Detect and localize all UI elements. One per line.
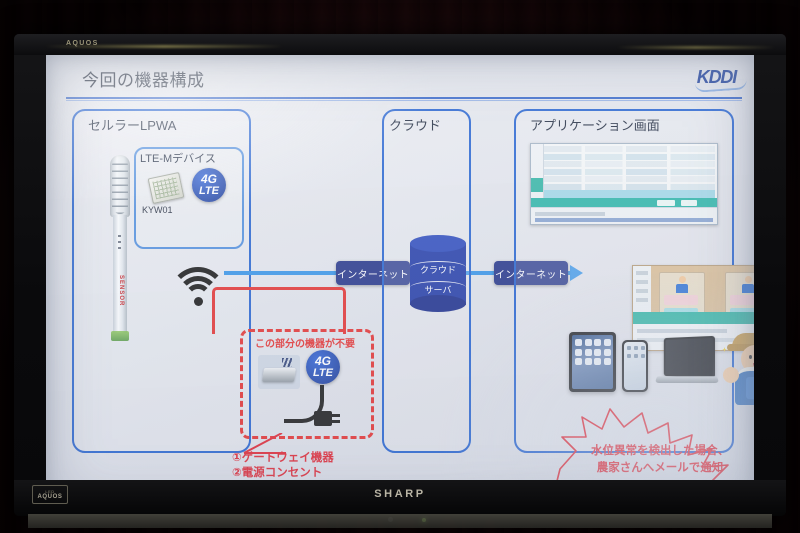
person-head xyxy=(745,276,752,283)
gateway-body xyxy=(262,368,296,382)
4g-lte-badge-icon: 4G LTE xyxy=(192,168,226,202)
farmer-illustration xyxy=(726,333,754,407)
tv-bottom-bezel: LED AQUOS SHARP xyxy=(14,480,786,516)
plug-head xyxy=(314,411,332,426)
gateway-antenna-icon xyxy=(282,358,292,367)
app-status-bar xyxy=(531,207,717,224)
smartphone-device-icon xyxy=(622,340,648,392)
form-sidebar-item xyxy=(636,298,648,302)
unnecessary-equipment-callout: この部分の機器が不要 xyxy=(246,335,364,350)
app-button xyxy=(657,200,675,206)
app-icon xyxy=(585,339,592,346)
table-row xyxy=(544,169,715,175)
person-head xyxy=(679,276,686,283)
page-title: 今回の機器構成 xyxy=(82,66,205,91)
title-divider xyxy=(66,97,742,99)
led-aquos-badge: LED AQUOS xyxy=(32,485,68,504)
cloud-server-database-icon: クラウド サーバ xyxy=(410,235,466,311)
app-taskbar xyxy=(535,218,713,222)
list-item: ①ゲートウェイ機器 xyxy=(232,451,424,466)
app-icon xyxy=(585,358,592,365)
television: AQUOS 今回の機器構成 KDDI セルラーLPWA SENSOR LTE-M… xyxy=(14,34,786,516)
badge-lte-text-2: LTE xyxy=(313,368,333,379)
app-icon xyxy=(575,339,582,346)
app-icon xyxy=(594,358,601,365)
kddi-swoosh xyxy=(695,79,748,93)
person-icon xyxy=(676,276,688,292)
table-row xyxy=(544,161,715,167)
sensor-brand-text: SENSOR xyxy=(116,275,124,327)
sharp-logo: SHARP xyxy=(374,488,426,500)
notification-line-2: 農家さんへメールで通知 xyxy=(562,460,754,477)
table-row xyxy=(544,154,715,160)
form-sidebar-item xyxy=(636,289,648,293)
tablet-device-icon xyxy=(569,332,616,392)
db-bottom xyxy=(410,295,466,312)
form-sidebar-item xyxy=(636,280,648,284)
form-alert-chip xyxy=(730,295,754,305)
notification-message: 水位異常を検出した場合、 農家さんへメールで通知 xyxy=(562,443,754,476)
table-row xyxy=(544,176,715,182)
title-divider-light xyxy=(66,100,742,101)
app-icon xyxy=(641,346,645,350)
tv-stand xyxy=(28,514,772,528)
person-icon xyxy=(742,276,754,292)
lte-m-device-label: LTE-Mデバイス xyxy=(140,150,216,166)
plug-pin xyxy=(332,414,340,417)
app-sidebar-selected xyxy=(531,178,543,192)
app-icon xyxy=(575,358,582,365)
tv-top-bezel: AQUOS xyxy=(14,34,786,55)
form-action-bar xyxy=(633,312,754,324)
person-body xyxy=(742,284,754,293)
db-label-line1: クラウド xyxy=(410,263,466,276)
plug-pin xyxy=(332,420,340,423)
application-table-screenshot xyxy=(530,143,718,225)
app-icon xyxy=(641,354,645,358)
app-icon xyxy=(634,346,638,350)
laptop-device-icon xyxy=(656,337,716,393)
app-icon xyxy=(594,349,601,356)
laptop-lid xyxy=(664,336,715,378)
grass-base xyxy=(111,331,129,341)
power-plug-icon xyxy=(284,385,340,429)
farmer-arm-left xyxy=(723,367,739,383)
gateway-device-icon xyxy=(258,355,300,389)
badge-lte-text: LTE xyxy=(199,186,219,197)
4g-lte-badge-icon-2: 4G LTE xyxy=(306,350,340,384)
app-icon xyxy=(575,349,582,356)
aquos-top-logo: AQUOS xyxy=(66,40,99,47)
panel-application-label: アプリケーション画面 xyxy=(530,115,660,134)
app-icon xyxy=(604,339,611,346)
panel-cloud-label: クラウド xyxy=(389,115,441,134)
sensor-ribs xyxy=(112,158,128,214)
form-alert-chip xyxy=(664,295,698,305)
water-level-sensor-pole: SENSOR xyxy=(108,155,132,340)
app-icon xyxy=(594,339,601,346)
db-label-line2: サーバ xyxy=(410,283,466,296)
badge-4g-text: 4G xyxy=(201,173,217,185)
badge-aquos-text: AQUOS xyxy=(37,494,62,500)
table-row xyxy=(544,146,715,152)
app-icon xyxy=(634,354,638,358)
sensor-cap xyxy=(110,155,130,217)
kddi-logo: KDDI xyxy=(697,67,736,88)
table-row xyxy=(544,184,715,190)
module-grid xyxy=(152,177,179,200)
db-top xyxy=(410,235,466,252)
form-sidebar-item xyxy=(636,271,648,275)
app-icon xyxy=(604,358,611,365)
red-bracket xyxy=(212,287,346,334)
badge-4g-text-2: 4G xyxy=(315,355,331,367)
app-icon xyxy=(604,349,611,356)
person-body xyxy=(676,284,688,293)
app-status-text xyxy=(535,212,605,216)
tablet-app-icons xyxy=(575,339,611,365)
notification-line-1: 水位異常を検出した場合、 xyxy=(562,443,754,460)
sensor-markings xyxy=(118,233,121,249)
app-icon xyxy=(627,354,631,358)
phone-screen xyxy=(624,342,646,390)
bezel-highlight-right xyxy=(616,46,776,49)
presentation-slide: 今回の機器構成 KDDI セルラーLPWA SENSOR LTE-Mデバイス K… xyxy=(46,55,754,511)
tablet-screen xyxy=(572,335,613,389)
wifi-dot xyxy=(194,297,203,306)
kyw01-label: KYW01 xyxy=(142,205,173,215)
laptop-screen xyxy=(666,338,713,376)
panel-cellular-label: セルラーLPWA xyxy=(88,115,176,134)
app-icon xyxy=(585,349,592,356)
farmer-eye-left xyxy=(749,355,752,359)
app-icon xyxy=(627,346,631,350)
form-footer-text xyxy=(637,329,727,333)
laptop-base xyxy=(655,376,719,383)
app-selected-row xyxy=(544,190,715,198)
app-button xyxy=(681,200,697,206)
slide-header: 今回の機器構成 KDDI xyxy=(60,64,742,98)
